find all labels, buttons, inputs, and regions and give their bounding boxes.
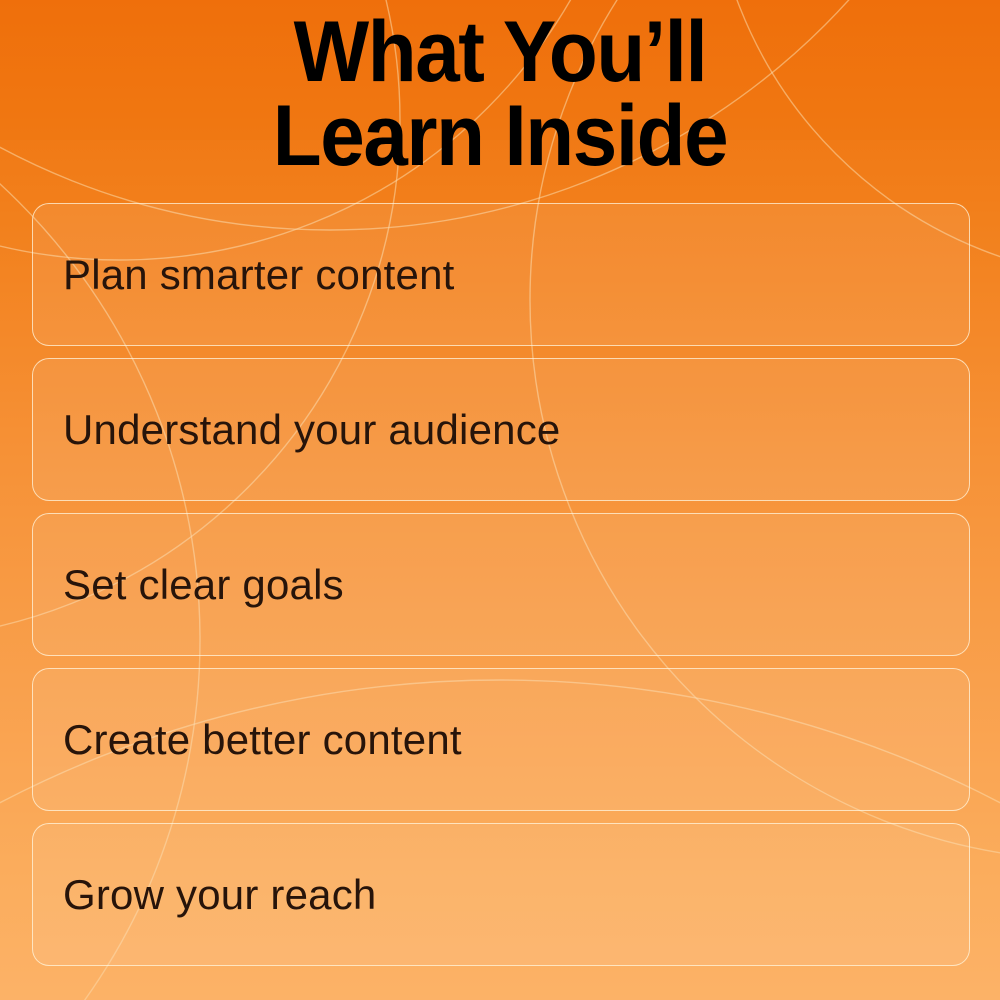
page-title-line-1: What You’ll xyxy=(35,10,965,94)
benefit-card-label: Grow your reach xyxy=(63,873,376,917)
poster-canvas: What You’ll Learn Inside Plan smarter co… xyxy=(0,0,1000,1000)
benefit-card-list: Plan smarter content Understand your aud… xyxy=(32,203,970,966)
benefit-card[interactable]: Understand your audience xyxy=(32,358,970,501)
benefit-card[interactable]: Grow your reach xyxy=(32,823,970,966)
benefit-card-label: Set clear goals xyxy=(63,563,344,607)
benefit-card[interactable]: Plan smarter content xyxy=(32,203,970,346)
benefit-card-label: Create better content xyxy=(63,718,462,762)
page-title: What You’ll Learn Inside xyxy=(0,10,1000,178)
benefit-card[interactable]: Set clear goals xyxy=(32,513,970,656)
benefit-card-label: Plan smarter content xyxy=(63,253,455,297)
benefit-card[interactable]: Create better content xyxy=(32,668,970,811)
page-title-line-2: Learn Inside xyxy=(35,94,965,178)
benefit-card-label: Understand your audience xyxy=(63,408,560,452)
